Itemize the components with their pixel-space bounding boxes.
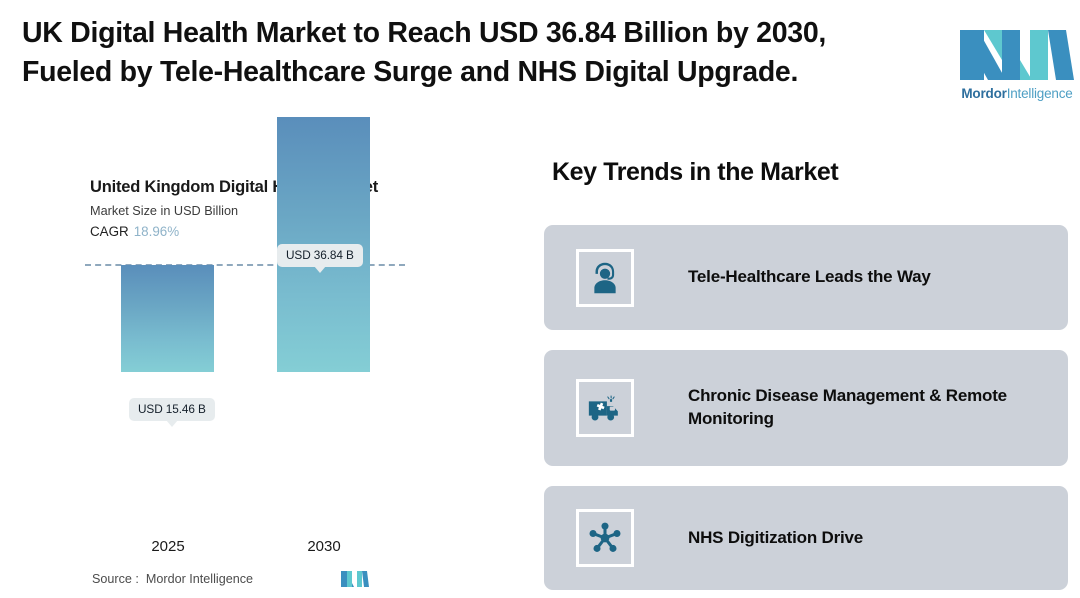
- mordor-m-logo-icon: [958, 28, 1076, 82]
- icon-frame: [576, 509, 634, 567]
- bar-value-label-2030: USD 36.84 B: [277, 244, 363, 267]
- x-tick-2030: 2030: [264, 538, 384, 555]
- trend-card-label: Chronic Disease Management & Remote Moni…: [688, 385, 1048, 431]
- trends-heading: Key Trends in the Market: [552, 158, 838, 187]
- brand-name-light: Intelligence: [1007, 86, 1073, 101]
- tele-headset-agent-icon: [586, 259, 624, 297]
- source-note: Source : Mordor Intelligence: [92, 572, 253, 586]
- trend-card-label: Tele-Healthcare Leads the Way: [688, 266, 931, 289]
- brand-logo: MordorIntelligence: [958, 28, 1076, 101]
- bar-chart-plot: USD 15.46 B USD 36.84 B 2025 2030 Source…: [0, 0, 520, 438]
- trend-card-label: NHS Digitization Drive: [688, 527, 863, 550]
- infographic-page: UK Digital Health Market to Reach USD 36…: [0, 0, 1080, 598]
- network-hub-icon: [586, 519, 624, 557]
- bar-2025: [121, 265, 214, 372]
- icon-frame: [576, 249, 634, 307]
- trend-card-nhs-digitization[interactable]: NHS Digitization Drive: [544, 486, 1068, 590]
- trend-card-tele-healthcare[interactable]: Tele-Healthcare Leads the Way: [544, 225, 1068, 330]
- trend-card-chronic-disease[interactable]: Chronic Disease Management & Remote Moni…: [544, 350, 1068, 466]
- icon-frame: [576, 379, 634, 437]
- brand-wordmark: MordorIntelligence: [958, 86, 1076, 101]
- source-value: Mordor Intelligence: [146, 572, 253, 586]
- source-label: Source :: [92, 572, 139, 586]
- ambulance-icon: [586, 389, 624, 427]
- source-mordor-logo-icon: [341, 570, 369, 588]
- brand-name-bold: Mordor: [961, 86, 1006, 101]
- bar-value-label-2025: USD 15.46 B: [129, 398, 215, 421]
- x-tick-2025: 2025: [108, 538, 228, 555]
